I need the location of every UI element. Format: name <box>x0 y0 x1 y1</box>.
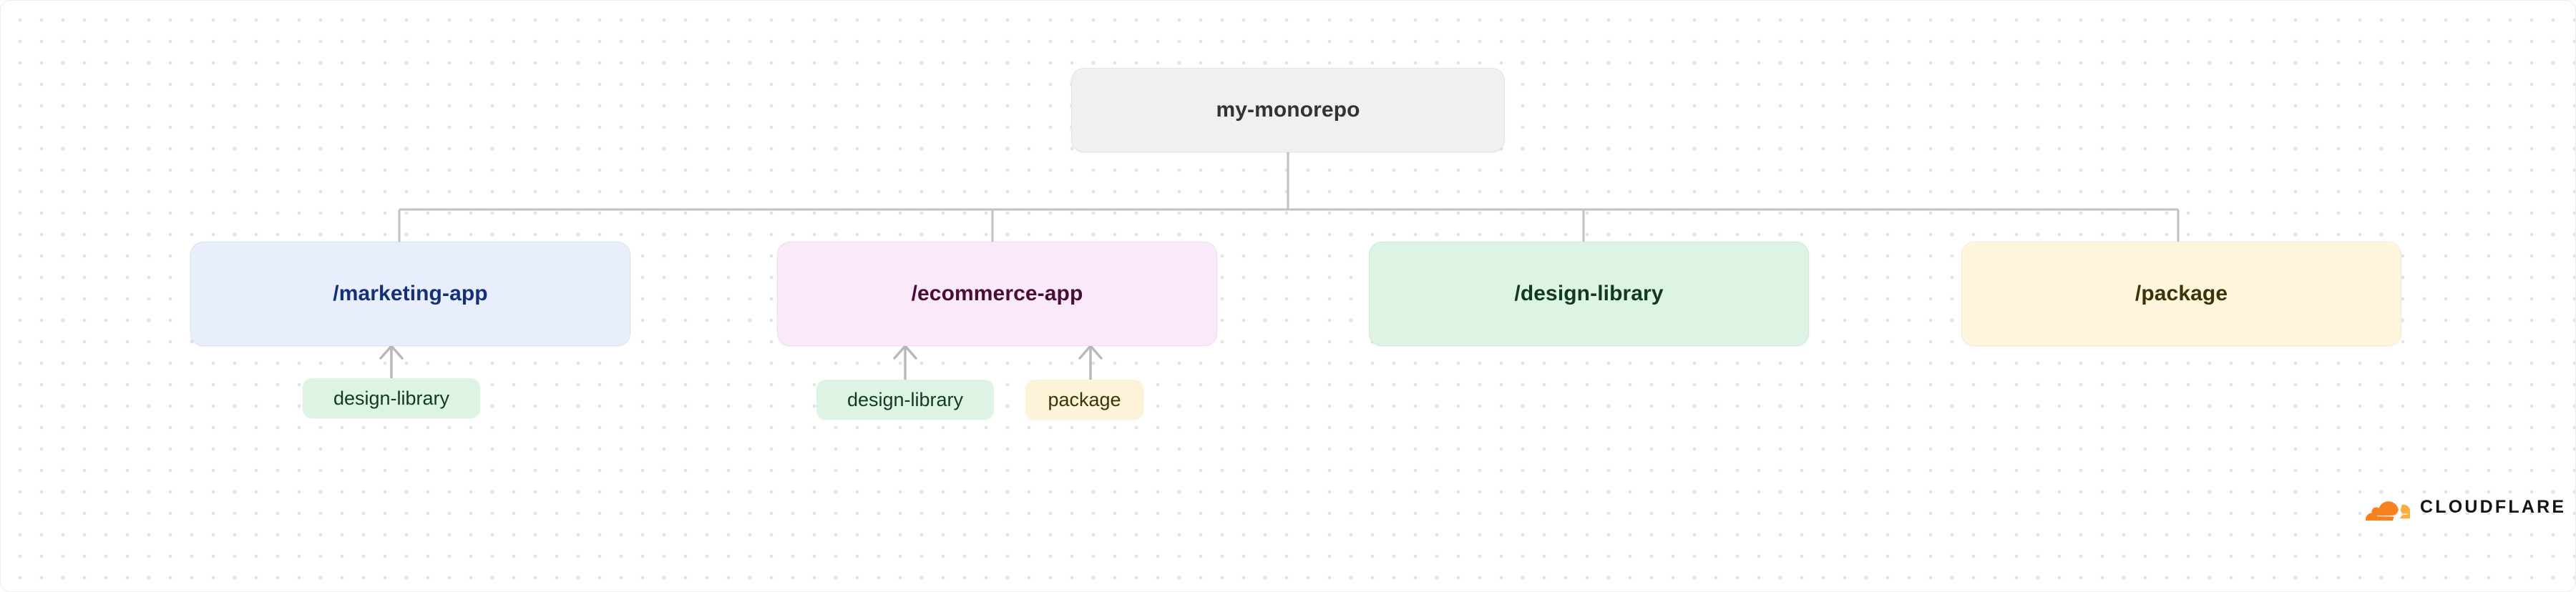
dependency-pill-label: package <box>1048 389 1121 411</box>
diagram-canvas: my-monorepo /marketing-app /ecommerce-ap… <box>0 0 2576 592</box>
dependency-pill-label: design-library <box>847 389 963 411</box>
cloudflare-cloud-icon <box>2350 493 2410 521</box>
node-root-label: my-monorepo <box>1216 98 1360 122</box>
dependency-pill-design-library-ecommerce[interactable]: design-library <box>816 380 994 420</box>
dependency-pill-design-library-marketing[interactable]: design-library <box>303 378 480 418</box>
node-root[interactable]: my-monorepo <box>1071 68 1505 152</box>
dependency-pill-package-ecommerce[interactable]: package <box>1025 380 1143 420</box>
node-package[interactable]: /package <box>1961 242 2401 346</box>
cloudflare-logo: CLOUDFLARE <box>2350 493 2566 521</box>
node-marketing-app-label: /marketing-app <box>333 282 487 306</box>
arrowhead-dep-ecommerce-package <box>1080 346 1101 358</box>
node-package-label: /package <box>2135 282 2228 306</box>
node-ecommerce-app-label: /ecommerce-app <box>912 282 1083 306</box>
node-design-library[interactable]: /design-library <box>1369 242 1809 346</box>
dependency-pill-label: design-library <box>333 388 449 410</box>
node-marketing-app[interactable]: /marketing-app <box>190 242 630 346</box>
node-design-library-label: /design-library <box>1514 282 1663 306</box>
node-ecommerce-app[interactable]: /ecommerce-app <box>777 242 1217 346</box>
arrowhead-dep-marketing-design-library <box>381 346 402 358</box>
cloudflare-wordmark: CLOUDFLARE <box>2420 497 2566 518</box>
arrowhead-dep-ecommerce-design-library <box>894 346 916 358</box>
